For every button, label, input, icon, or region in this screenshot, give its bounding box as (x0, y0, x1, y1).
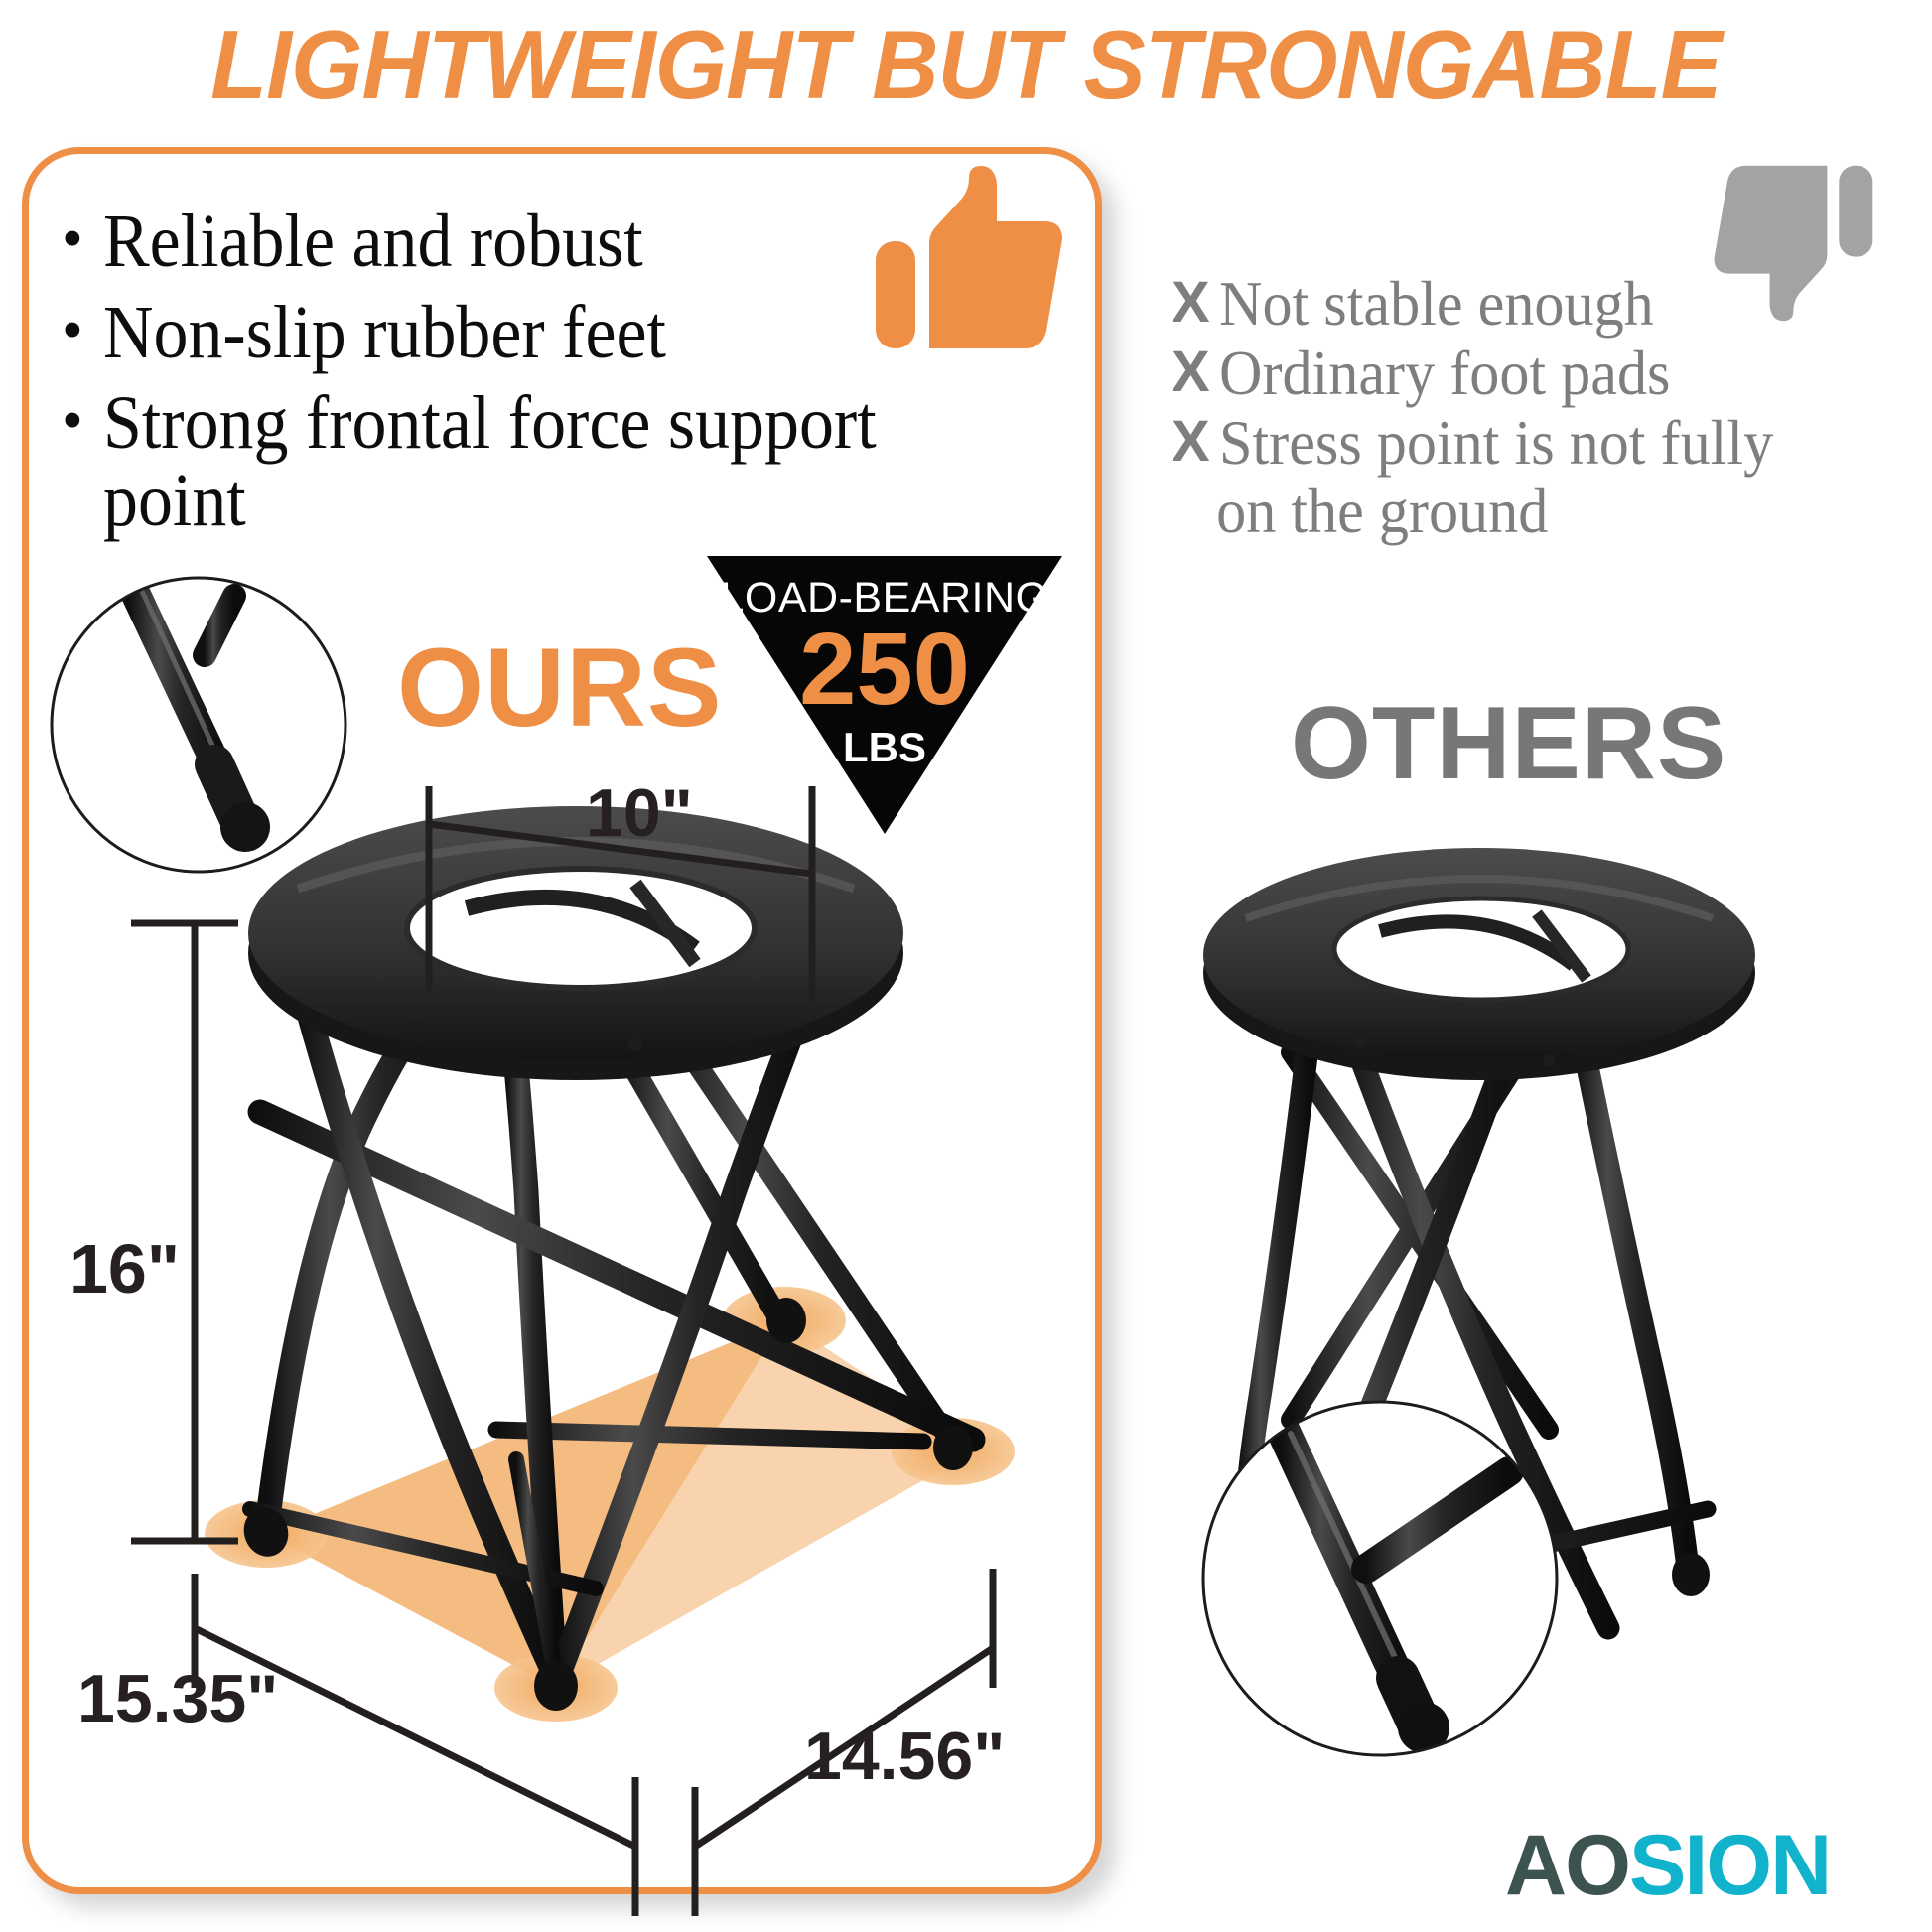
bullet-dot-icon: • (62, 295, 103, 367)
list-item-label: Not stable enough (1219, 270, 1883, 338)
others-foot-detail-callout (1197, 1396, 1563, 1761)
rubber-foot (1220, 1621, 1258, 1665)
x-mark-icon: X (1172, 340, 1219, 405)
aosion-logo: AOSION (1505, 1823, 1830, 1908)
list-item: • Non-slip rubber feet (62, 295, 955, 372)
x-mark-icon: X (1172, 409, 1219, 475)
list-item: X Not stable enough (1172, 270, 1926, 338)
list-item-label: Strong frontal force support point (103, 385, 887, 539)
list-item: X Stress point is not fully (1172, 409, 1926, 477)
list-item-label: Ordinary foot pads (1219, 340, 1883, 407)
x-mark-icon: X (1172, 270, 1219, 336)
ours-benefit-list: • Reliable and robust • Non-slip rubber … (62, 204, 955, 553)
rubber-foot (1672, 1553, 1710, 1596)
seat-ring (1203, 848, 1755, 1080)
list-item-label-continuation: on the ground (1172, 478, 1880, 545)
badge-value: 250 (707, 618, 1062, 720)
thumbs-up-icon (874, 164, 1072, 362)
dimension-label-height: 16" (69, 1229, 180, 1309)
list-item: • Reliable and robust (62, 204, 955, 281)
list-item-label: Non-slip rubber feet (103, 295, 887, 372)
badge-unit: LBS (707, 727, 1062, 768)
list-item-label: Stress point is not fully (1219, 409, 1883, 477)
logo-text-sion: SION (1629, 1818, 1830, 1913)
logo-text-ao: AO (1505, 1818, 1629, 1913)
dimension-label-base-left: 15.35" (77, 1660, 278, 1737)
bullet-dot-icon: • (62, 385, 103, 458)
others-stool-image (1203, 848, 1755, 1665)
list-item: • Strong frontal force support point (62, 385, 955, 539)
others-drawback-list: X Not stable enough X Ordinary foot pads… (1172, 270, 1926, 545)
dimension-label-width-top: 10" (586, 774, 693, 852)
load-bearing-badge: LOAD-BEARING 250 LBS (707, 556, 1062, 834)
list-item: X Ordinary foot pads (1172, 340, 1926, 407)
page-title: LIGHTWEIGHT BUT STRONGABLE (49, 10, 1884, 119)
list-item-label: Reliable and robust (103, 204, 887, 281)
ours-label: OURS (397, 623, 723, 752)
dimension-label-base-right: 14.56" (804, 1718, 1005, 1795)
others-label: OTHERS (1291, 685, 1726, 803)
bullet-dot-icon: • (62, 204, 103, 276)
